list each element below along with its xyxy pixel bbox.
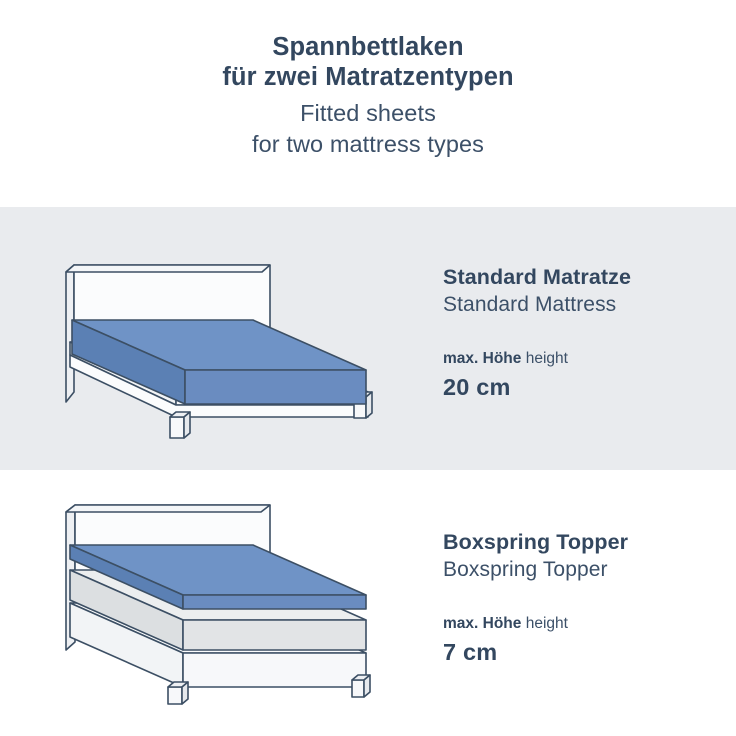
bed-leg-front-side — [184, 412, 190, 438]
standard-height-label-row: max. Höhe height — [443, 349, 723, 369]
boxspring-base-right-face — [183, 653, 366, 687]
boxspring-height-value: 7 cm — [443, 638, 723, 667]
boxspring-height-label-row: max. Höhe height — [443, 614, 723, 634]
boxspring-name-english: Boxspring Topper — [443, 556, 723, 583]
standard-name-german: Standard Matratze — [443, 264, 723, 291]
bed-leg-right-side — [366, 392, 372, 418]
title-german-line1: Spannbettlaken — [0, 32, 736, 62]
boxspring-height-label-german: max. Höhe — [443, 615, 521, 632]
standard-bed-svg — [48, 242, 388, 442]
standard-mattress-bed-illustration — [48, 242, 388, 442]
section-standard-mattress: Standard Matratze Standard Mattress max.… — [0, 207, 736, 470]
standard-height-label-german: max. Höhe — [443, 350, 521, 367]
standard-height-value: 20 cm — [443, 373, 723, 402]
standard-info-block: Standard Matratze Standard Mattress max.… — [443, 264, 723, 402]
boxspring-name-german: Boxspring Topper — [443, 529, 723, 556]
standard-height-label-english: height — [526, 350, 568, 367]
headboard-top-edge — [66, 265, 270, 272]
boxspring-topper-bed-illustration — [48, 490, 393, 705]
boxspring-info-block: Boxspring Topper Boxspring Topper max. H… — [443, 529, 723, 667]
section-boxspring-topper: Boxspring Topper Boxspring Topper max. H… — [0, 470, 736, 736]
mattress-right-face — [185, 370, 366, 404]
boxspring-leg-front-side — [182, 682, 188, 704]
title-english-line2: for two mattress types — [0, 129, 736, 160]
bs-headboard-top-edge — [66, 505, 270, 512]
infographic-page: Spannbettlaken für zwei Matratzentypen F… — [0, 0, 736, 736]
boxspring-mattress-right-face — [183, 620, 366, 650]
standard-name-english: Standard Mattress — [443, 291, 723, 318]
boxspring-bed-svg — [48, 490, 393, 705]
title-english: Fitted sheets for two mattress types — [0, 98, 736, 160]
title-german-line2: für zwei Matratzentypen — [0, 62, 736, 92]
boxspring-leg-right — [352, 680, 364, 697]
boxspring-leg-front — [168, 687, 182, 704]
page-header: Spannbettlaken für zwei Matratzentypen F… — [0, 0, 736, 207]
title-english-line1: Fitted sheets — [0, 98, 736, 129]
title-german: Spannbettlaken für zwei Matratzentypen — [0, 32, 736, 92]
bed-leg-front — [170, 417, 184, 438]
boxspring-leg-right-side — [364, 675, 370, 697]
topper-right-face — [183, 595, 366, 609]
boxspring-height-label-english: height — [526, 615, 568, 632]
